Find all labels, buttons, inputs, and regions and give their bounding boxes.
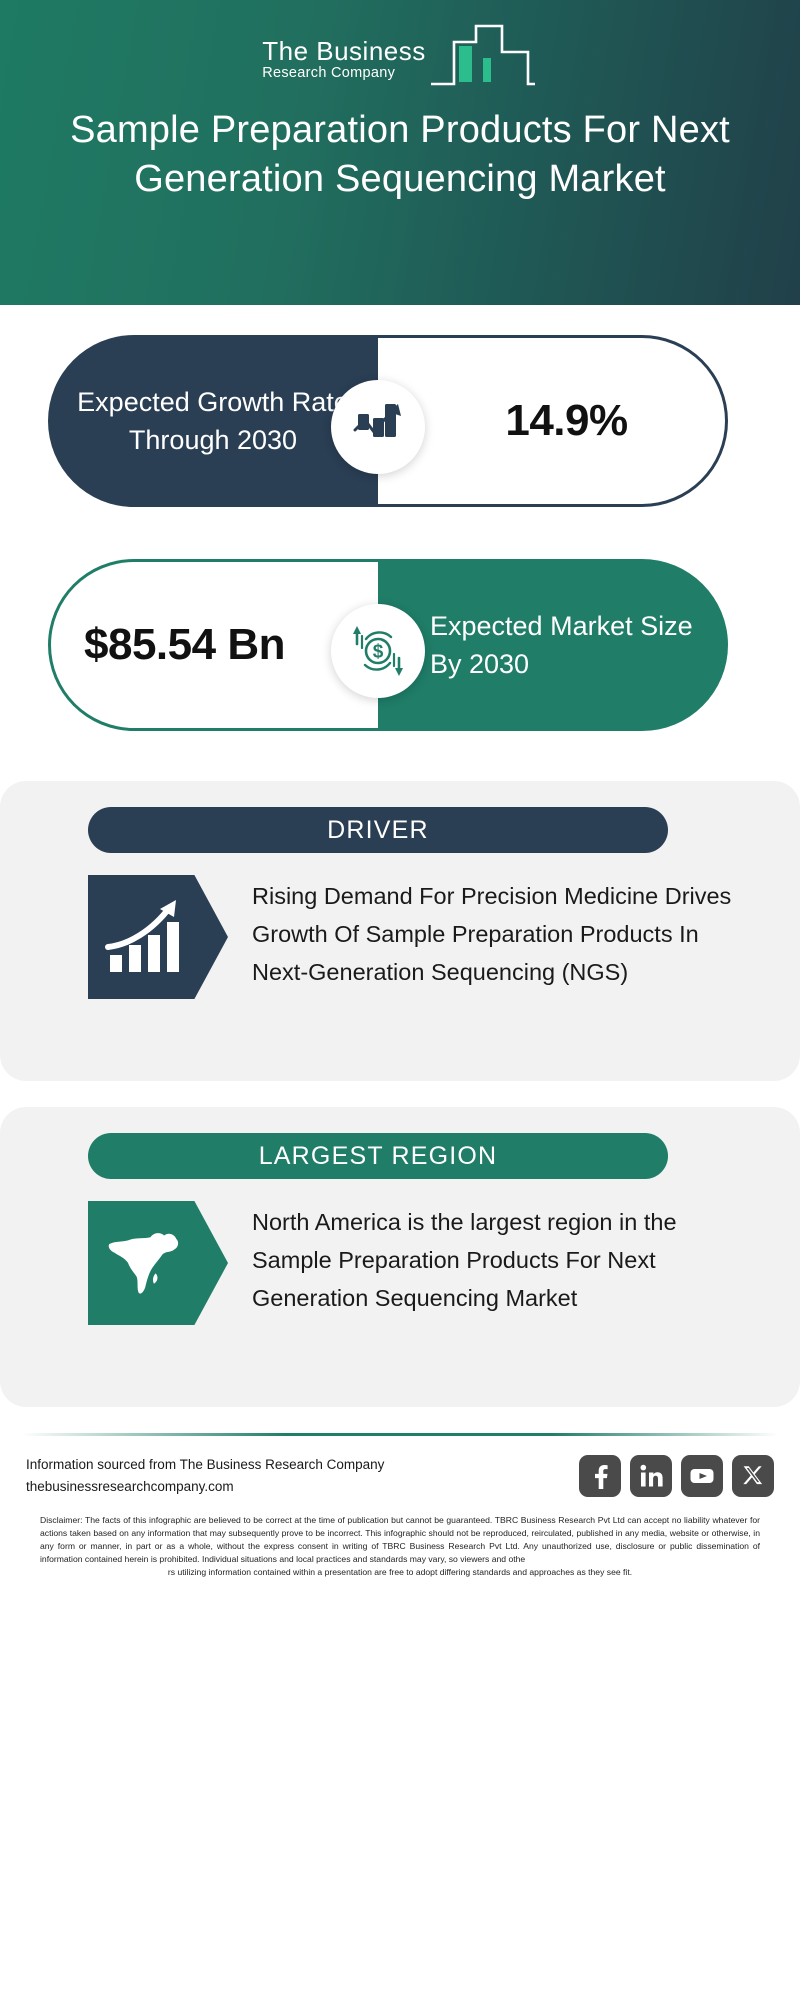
header-banner: The Business Research Company Sample Pre…	[0, 0, 800, 305]
youtube-icon[interactable]	[681, 1455, 723, 1497]
driver-body: Rising Demand For Precision Medicine Dri…	[0, 875, 800, 999]
growth-rate-value: 14.9%	[475, 393, 627, 449]
driver-badge: DRIVER	[88, 807, 668, 853]
growth-rate-label-pill: Expected Growth Rate Through 2030	[48, 335, 378, 507]
linkedin-icon[interactable]	[630, 1455, 672, 1497]
infographic-page: The Business Research Company Sample Pre…	[0, 0, 800, 2000]
bar-chart-logo-icon	[428, 22, 538, 90]
page-title: Sample Preparation Products For Next Gen…	[0, 106, 800, 203]
largest-region-text: North America is the largest region in t…	[252, 1201, 742, 1317]
growth-chart-arrow-icon	[331, 380, 425, 474]
driver-text: Rising Demand For Precision Medicine Dri…	[252, 875, 742, 991]
footer-source-line-1: Information sourced from The Business Re…	[26, 1454, 384, 1476]
market-size-label: Expected Market Size By 2030	[378, 607, 728, 684]
logo-line-2: Research Company	[262, 64, 395, 84]
disclaimer-text: Disclaimer: The facts of this infographi…	[22, 1504, 778, 1579]
logo-text-block: The Business Research Company	[262, 38, 426, 90]
driver-card: DRIVER Rising Demand For Precision Medic…	[0, 781, 800, 1081]
x-twitter-icon[interactable]	[732, 1455, 774, 1497]
svg-text:$: $	[373, 642, 384, 663]
growth-rate-label: Expected Growth Rate Through 2030	[48, 383, 378, 460]
company-logo: The Business Research Company	[0, 18, 800, 90]
largest-region-badge: LARGEST REGION	[88, 1133, 668, 1179]
market-size-label-pill: Expected Market Size By 2030	[378, 559, 728, 731]
logo-line-1: The Business	[262, 38, 426, 64]
stat-row-growth-rate: Expected Growth Rate Through 2030 14.9%	[0, 327, 800, 527]
social-links	[579, 1455, 774, 1497]
disclaimer-last-line: rs utilizing information contained withi…	[40, 1566, 760, 1579]
north-america-map-icon	[88, 1201, 228, 1325]
market-size-value-pill: $85.54 Bn	[48, 559, 378, 731]
dollar-circular-arrows-icon: $	[331, 604, 425, 698]
footer-main: Information sourced from The Business Re…	[22, 1436, 778, 1504]
growth-rate-value-pill: 14.9%	[378, 335, 728, 507]
largest-region-card: LARGEST REGION North America is the larg…	[0, 1107, 800, 1407]
footer-source: Information sourced from The Business Re…	[26, 1454, 384, 1498]
footer-source-url[interactable]: thebusinessresearchcompany.com	[26, 1476, 384, 1498]
facebook-icon[interactable]	[579, 1455, 621, 1497]
market-size-value: $85.54 Bn	[84, 617, 345, 673]
ascending-bar-chart-arrow-icon	[88, 875, 228, 999]
disclaimer-body: Disclaimer: The facts of this infographi…	[40, 1515, 760, 1564]
largest-region-body: North America is the largest region in t…	[0, 1201, 800, 1325]
footer: Information sourced from The Business Re…	[0, 1433, 800, 1579]
stat-row-market-size: $85.54 Bn Expected Market Size By 2030 $	[0, 551, 800, 751]
